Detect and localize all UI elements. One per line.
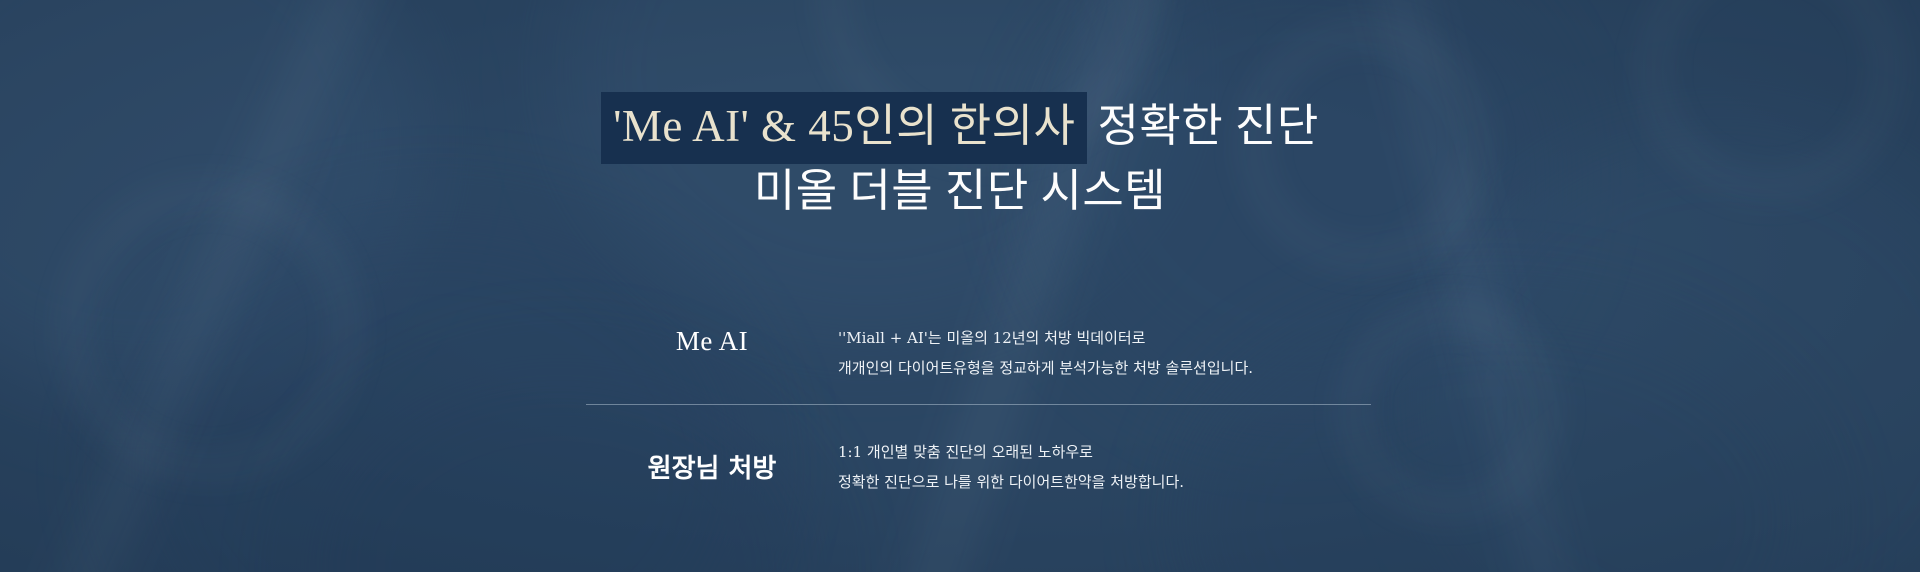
feature-description-me-ai: ''Miall + AI'는 미올의 12년의 처방 빅데이터로 개개인의 다이… bbox=[838, 320, 1372, 383]
description-line: 1:1 개인별 맞춤 진단의 오래된 노하우로 bbox=[838, 437, 1372, 467]
title-highlight-text: 'Me AI' & 45인의 한의사 bbox=[601, 92, 1087, 164]
section-divider bbox=[586, 404, 1371, 405]
feature-label-me-ai: Me AI bbox=[586, 320, 838, 357]
list-item: 원장님 처방 1:1 개인별 맞춤 진단의 오래된 노하우로 정확한 진단으로 … bbox=[586, 404, 1372, 488]
list-item: Me AI ''Miall + AI'는 미올의 12년의 처방 빅데이터로 개… bbox=[586, 320, 1372, 404]
title-line-2: 미올 더블 진단 시스템 bbox=[0, 169, 1920, 214]
title-line-1: 'Me AI' & 45인의 한의사정확한 진단 bbox=[0, 104, 1920, 149]
description-line: 정확한 진단으로 나를 위한 다이어트한약을 처방합니다. bbox=[838, 467, 1372, 497]
description-line: ''Miall + AI'는 미올의 12년의 처방 빅데이터로 bbox=[838, 323, 1372, 353]
feature-description-wonjang: 1:1 개인별 맞춤 진단의 오래된 노하우로 정확한 진단으로 나를 위한 다… bbox=[838, 434, 1372, 497]
page-title: 'Me AI' & 45인의 한의사정확한 진단 미올 더블 진단 시스템 bbox=[0, 104, 1920, 214]
feature-label-wonjang: 원장님 처방 bbox=[586, 434, 838, 485]
hero-section: 'Me AI' & 45인의 한의사정확한 진단 미올 더블 진단 시스템 Me… bbox=[0, 0, 1920, 572]
title-plain-text: 정확한 진단 bbox=[1097, 101, 1318, 151]
description-line: 개개인의 다이어트유형을 정교하게 분석가능한 처방 솔루션입니다. bbox=[838, 353, 1372, 383]
